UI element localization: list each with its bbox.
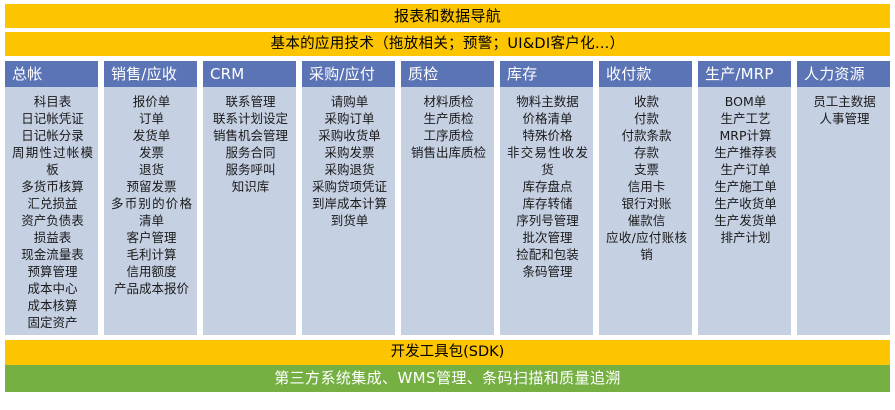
module-column-body: 报价单订单发货单发票退货预留发票多币别的价格清单客户管理毛利计算信用额度产品成本…	[104, 87, 197, 335]
module-item[interactable]: 预算管理	[12, 263, 93, 280]
module-item[interactable]: 条码管理	[507, 263, 588, 280]
module-item[interactable]: 采购订单	[309, 110, 390, 127]
module-item[interactable]: 知识库	[210, 178, 291, 195]
erp-module-map: 报表和数据导航 基本的应用技术（拖放相关；预警；UI&DI客户化…） 总帐科目表…	[0, 0, 895, 410]
module-item[interactable]: 人事管理	[804, 110, 885, 127]
module-item[interactable]: 汇兑损益	[12, 195, 93, 212]
module-column-body: 联系管理联系计划设定销售机会管理服务合同服务呼叫知识库	[203, 87, 296, 335]
module-item[interactable]: 客户管理	[111, 229, 192, 246]
module-item[interactable]: 成本中心	[12, 280, 93, 297]
module-item[interactable]: 非交易性收发货	[507, 144, 588, 178]
module-item[interactable]: 工序质检	[408, 127, 489, 144]
module-column: 收付款收款付款付款条款存款支票信用卡银行对账催款信应收/应付账核销	[599, 61, 692, 335]
module-item[interactable]: 信用卡	[606, 178, 687, 195]
module-item-list: 收款付款付款条款存款支票信用卡银行对账催款信应收/应付账核销	[606, 93, 687, 263]
module-item[interactable]: 联系计划设定	[210, 110, 291, 127]
sdk-banner: 开发工具包(SDK)	[5, 340, 890, 365]
module-column-header[interactable]: 人力资源	[797, 61, 890, 87]
module-item[interactable]: 日记帐分录	[12, 127, 93, 144]
module-column-body: 员工主数据人事管理	[797, 87, 890, 335]
module-item[interactable]: 周期性过帐模板	[12, 144, 93, 178]
module-column: 采购/应付请购单采购订单采购收货单采购发票采购退货采购贷项凭证到岸成本计算到货单	[302, 61, 395, 335]
module-column-header[interactable]: 销售/应收	[104, 61, 197, 87]
module-column-body: 材料质检生产质检工序质检销售出库质检	[401, 87, 494, 335]
module-item[interactable]: BOM单	[705, 93, 786, 110]
module-item-list: 员工主数据人事管理	[804, 93, 885, 127]
module-item-list: BOM单生产工艺MRP计算生产推荐表生产订单生产施工单生产收货单生产发货单排产计…	[705, 93, 786, 246]
module-item[interactable]: 服务合同	[210, 144, 291, 161]
module-item[interactable]: 采购退货	[309, 161, 390, 178]
module-column: 质检材料质检生产质检工序质检销售出库质检	[401, 61, 494, 335]
module-column-header[interactable]: 库存	[500, 61, 593, 87]
module-item-list: 联系管理联系计划设定销售机会管理服务合同服务呼叫知识库	[210, 93, 291, 195]
module-item[interactable]: 多货币核算	[12, 178, 93, 195]
module-column-header[interactable]: 总帐	[5, 61, 98, 87]
module-column-header[interactable]: 生产/MRP	[698, 61, 791, 87]
module-item[interactable]: 价格清单	[507, 110, 588, 127]
module-item[interactable]: 现金流量表	[12, 246, 93, 263]
module-item[interactable]: 付款条款	[606, 127, 687, 144]
module-item[interactable]: 销售机会管理	[210, 127, 291, 144]
module-item[interactable]: 特殊价格	[507, 127, 588, 144]
module-item[interactable]: 联系管理	[210, 93, 291, 110]
module-column-body: 收款付款付款条款存款支票信用卡银行对账催款信应收/应付账核销	[599, 87, 692, 335]
module-item[interactable]: 到岸成本计算	[309, 195, 390, 212]
module-item[interactable]: 排产计划	[705, 229, 786, 246]
module-item[interactable]: 银行对账	[606, 195, 687, 212]
module-item[interactable]: 催款信	[606, 212, 687, 229]
module-item[interactable]: 采购贷项凭证	[309, 178, 390, 195]
module-item-list: 请购单采购订单采购收货单采购发票采购退货采购贷项凭证到岸成本计算到货单	[309, 93, 390, 229]
module-item[interactable]: MRP计算	[705, 127, 786, 144]
module-item[interactable]: 材料质检	[408, 93, 489, 110]
module-item[interactable]: 物料主数据	[507, 93, 588, 110]
module-column-body: 请购单采购订单采购收货单采购发票采购退货采购贷项凭证到岸成本计算到货单	[302, 87, 395, 335]
module-item[interactable]: 退货	[111, 161, 192, 178]
module-item[interactable]: 到货单	[309, 212, 390, 229]
module-column: 销售/应收报价单订单发货单发票退货预留发票多币别的价格清单客户管理毛利计算信用额…	[104, 61, 197, 335]
module-item[interactable]: 生产质检	[408, 110, 489, 127]
module-item[interactable]: 采购收货单	[309, 127, 390, 144]
module-item[interactable]: 库存转储	[507, 195, 588, 212]
reports-navigation-banner: 报表和数据导航	[5, 4, 890, 28]
module-item[interactable]: 生产工艺	[705, 110, 786, 127]
module-column: 生产/MRPBOM单生产工艺MRP计算生产推荐表生产订单生产施工单生产收货单生产…	[698, 61, 791, 335]
module-item[interactable]: 批次管理	[507, 229, 588, 246]
module-item[interactable]: 毛利计算	[111, 246, 192, 263]
module-column-body: 科目表日记帐凭证日记帐分录周期性过帐模板多货币核算汇兑损益资产负债表损益表现金流…	[5, 87, 98, 335]
module-item[interactable]: 资产负债表	[12, 212, 93, 229]
module-column-header[interactable]: 质检	[401, 61, 494, 87]
module-item[interactable]: 发票	[111, 144, 192, 161]
module-column: 库存物料主数据价格清单特殊价格非交易性收发货库存盘点库存转储序列号管理批次管理捡…	[500, 61, 593, 335]
module-item[interactable]: 生产订单	[705, 161, 786, 178]
module-item[interactable]: 固定资产	[12, 314, 93, 331]
module-item[interactable]: 日记帐凭证	[12, 110, 93, 127]
module-column: 总帐科目表日记帐凭证日记帐分录周期性过帐模板多货币核算汇兑损益资产负债表损益表现…	[5, 61, 98, 335]
module-item[interactable]: 生产施工单	[705, 178, 786, 195]
module-item[interactable]: 捡配和包装	[507, 246, 588, 263]
module-item-list: 材料质检生产质检工序质检销售出库质检	[408, 93, 489, 161]
module-item[interactable]: 付款	[606, 110, 687, 127]
module-item[interactable]: 支票	[606, 161, 687, 178]
base-application-technology-banner: 基本的应用技术（拖放相关；预警；UI&DI客户化…）	[5, 32, 890, 56]
module-column: CRM联系管理联系计划设定销售机会管理服务合同服务呼叫知识库	[203, 61, 296, 335]
module-item[interactable]: 成本核算	[12, 297, 93, 314]
module-item[interactable]: 报价单	[111, 93, 192, 110]
module-item[interactable]: 生产收货单	[705, 195, 786, 212]
module-column-body: 物料主数据价格清单特殊价格非交易性收发货库存盘点库存转储序列号管理批次管理捡配和…	[500, 87, 593, 335]
module-item-list: 物料主数据价格清单特殊价格非交易性收发货库存盘点库存转储序列号管理批次管理捡配和…	[507, 93, 588, 280]
module-item[interactable]: 销售出库质检	[408, 144, 489, 161]
module-item[interactable]: 产品成本报价	[111, 280, 192, 297]
third-party-integration-banner: 第三方系统集成、WMS管理、条码扫描和质量追溯	[5, 365, 890, 392]
module-item[interactable]: 预留发票	[111, 178, 192, 195]
module-item-list: 科目表日记帐凭证日记帐分录周期性过帐模板多货币核算汇兑损益资产负债表损益表现金流…	[12, 93, 93, 331]
module-item[interactable]: 收款	[606, 93, 687, 110]
bottom-bars: 开发工具包(SDK) 第三方系统集成、WMS管理、条码扫描和质量追溯	[5, 340, 890, 392]
module-item[interactable]: 请购单	[309, 93, 390, 110]
module-item-list: 报价单订单发货单发票退货预留发票多币别的价格清单客户管理毛利计算信用额度产品成本…	[111, 93, 192, 297]
module-item[interactable]: 信用额度	[111, 263, 192, 280]
module-item[interactable]: 生产推荐表	[705, 144, 786, 161]
module-columns: 总帐科目表日记帐凭证日记帐分录周期性过帐模板多货币核算汇兑损益资产负债表损益表现…	[5, 61, 890, 335]
module-column: 人力资源员工主数据人事管理	[797, 61, 890, 335]
module-column-header[interactable]: 收付款	[599, 61, 692, 87]
module-item[interactable]: 科目表	[12, 93, 93, 110]
module-column-header[interactable]: 采购/应付	[302, 61, 395, 87]
module-column-header[interactable]: CRM	[203, 61, 296, 87]
module-item[interactable]: 采购发票	[309, 144, 390, 161]
module-item[interactable]: 员工主数据	[804, 93, 885, 110]
module-item[interactable]: 库存盘点	[507, 178, 588, 195]
module-item[interactable]: 多币别的价格清单	[111, 195, 192, 229]
module-column-body: BOM单生产工艺MRP计算生产推荐表生产订单生产施工单生产收货单生产发货单排产计…	[698, 87, 791, 335]
module-item[interactable]: 发货单	[111, 127, 192, 144]
module-item[interactable]: 损益表	[12, 229, 93, 246]
module-item[interactable]: 服务呼叫	[210, 161, 291, 178]
module-item[interactable]: 生产发货单	[705, 212, 786, 229]
module-item[interactable]: 序列号管理	[507, 212, 588, 229]
module-item[interactable]: 应收/应付账核销	[606, 229, 687, 263]
module-item[interactable]: 存款	[606, 144, 687, 161]
module-item[interactable]: 订单	[111, 110, 192, 127]
